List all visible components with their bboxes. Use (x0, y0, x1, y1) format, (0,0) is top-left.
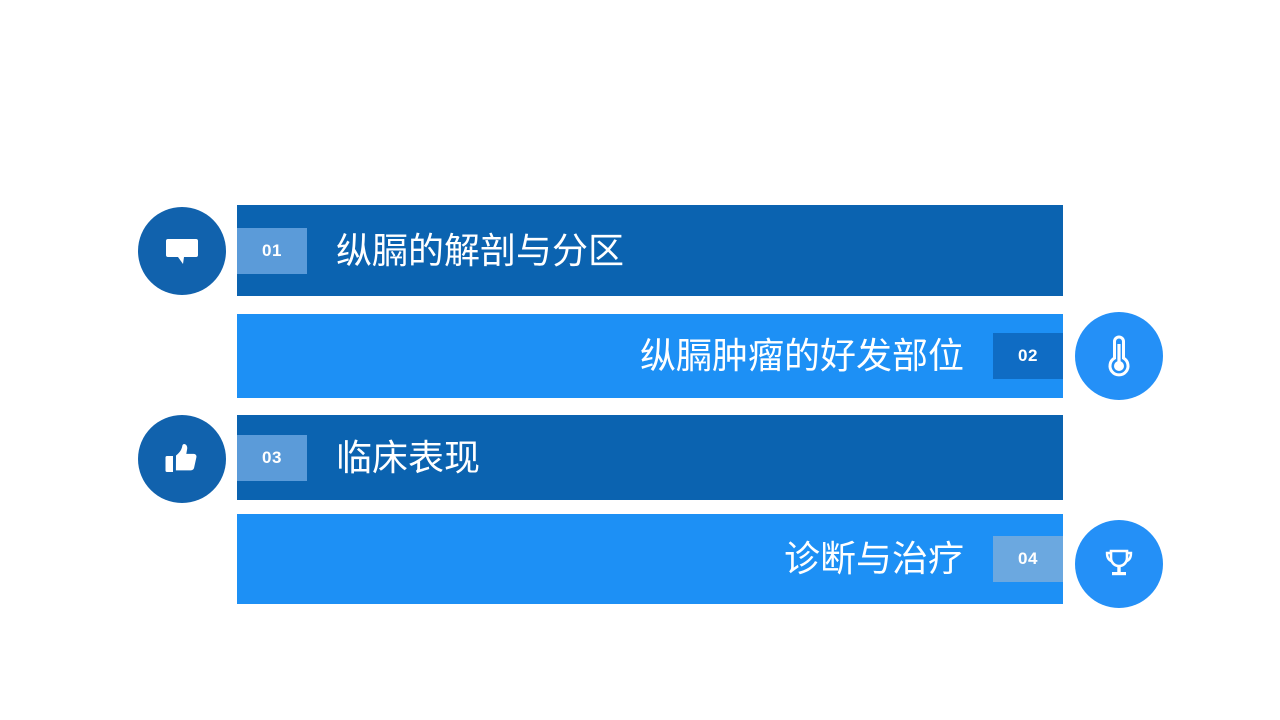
agenda-number-01: 01 (237, 228, 307, 274)
thumbs-up-icon-circle[interactable] (138, 415, 226, 503)
agenda-bar-03[interactable]: 03 临床表现 (237, 415, 1063, 500)
agenda-bar-02[interactable]: 纵膈肿瘤的好发部位 02 (237, 314, 1063, 398)
agenda-title-02: 纵膈肿瘤的好发部位 (640, 338, 964, 374)
agenda-number-02: 02 (993, 333, 1063, 379)
thermometer-icon-circle[interactable] (1075, 312, 1163, 400)
agenda-number-03: 03 (237, 435, 307, 481)
thermometer-icon (1106, 335, 1132, 377)
trophy-icon-circle[interactable] (1075, 520, 1163, 608)
agenda-title-01: 纵膈的解剖与分区 (336, 233, 624, 269)
speech-bubble-icon (165, 235, 199, 267)
thumbs-up-icon (165, 442, 199, 476)
agenda-slide: 01 纵膈的解剖与分区 纵膈肿瘤的好发部位 02 (0, 0, 1280, 720)
agenda-number-04: 04 (993, 536, 1063, 582)
agenda-bar-04[interactable]: 诊断与治疗 04 (237, 514, 1063, 604)
agenda-bar-01[interactable]: 01 纵膈的解剖与分区 (237, 205, 1063, 296)
agenda-title-04: 诊断与治疗 (784, 541, 964, 577)
agenda-title-03: 临床表现 (336, 440, 480, 476)
speech-bubble-icon-circle[interactable] (138, 207, 226, 295)
trophy-icon (1102, 547, 1136, 581)
